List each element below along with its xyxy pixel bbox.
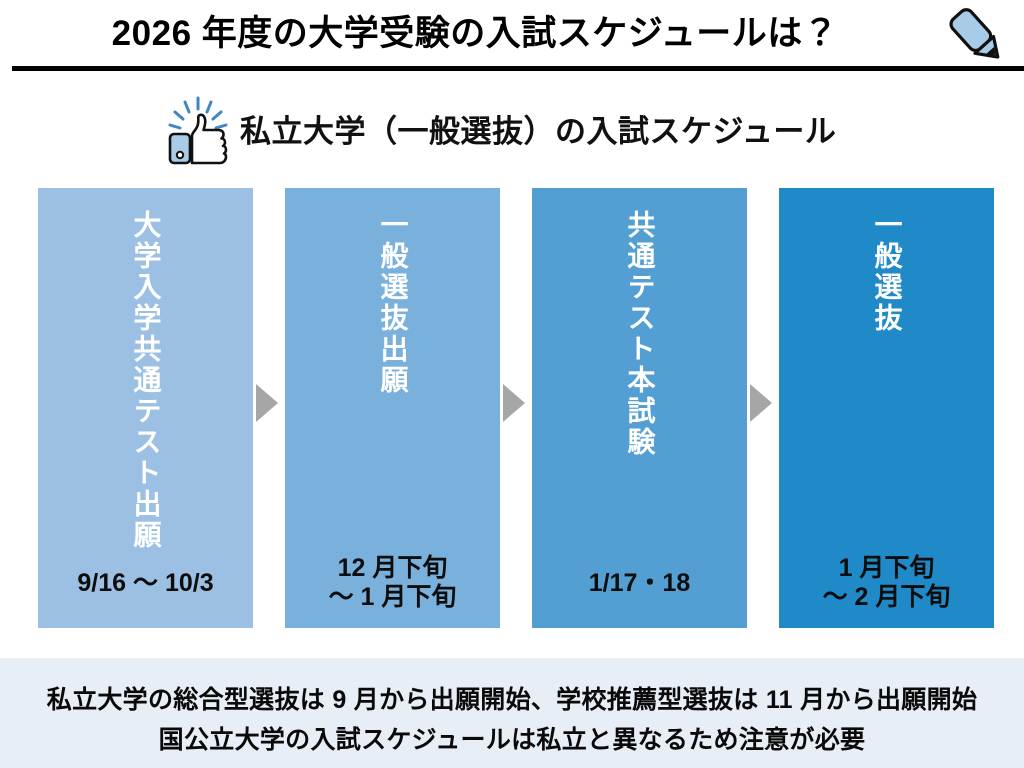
thumbs-up-icon <box>162 96 234 166</box>
card-date: 1/17・18 <box>532 569 747 598</box>
subtitle-text: 私立大学（一般選抜）の入試スケジュール <box>240 112 836 152</box>
card-title: 一般選抜出願 <box>285 210 500 396</box>
card-title: 大学入学共通テスト出願 <box>38 210 253 551</box>
card-date-line-1: 12 月下旬 <box>285 554 500 583</box>
card-title-text: 共通テスト本試験 <box>626 210 654 458</box>
triangle-right-icon <box>750 384 772 422</box>
triangle-right-icon <box>503 384 525 422</box>
timeline-card-4: 一般選抜 1 月下旬 〜 2 月下旬 <box>779 188 994 628</box>
footer-note-line-1: 私立大学の総合型選抜は 9 月から出願開始、学校推薦型選抜は 11 月から出願開… <box>0 680 1024 716</box>
card-date-line-1: 1/17・18 <box>532 569 747 598</box>
card-title-text: 一般選抜 <box>873 210 901 334</box>
timeline-card-3: 共通テスト本試験 1/17・18 <box>532 188 747 628</box>
timeline-card-2: 一般選抜出願 12 月下旬 〜 1 月下旬 <box>285 188 500 628</box>
card-date: 1 月下旬 〜 2 月下旬 <box>779 554 994 612</box>
card-date-line-1: 1 月下旬 <box>779 554 994 583</box>
card-title-text: 一般選抜出願 <box>379 210 407 396</box>
card-date: 12 月下旬 〜 1 月下旬 <box>285 554 500 612</box>
subtitle-row: 私立大学（一般選抜）の入試スケジュール <box>0 96 1024 168</box>
timeline: 大学入学共通テスト出願 9/16 〜 10/3 一般選抜出願 12 月下旬 〜 … <box>0 188 1024 628</box>
page-title: 2026 年度の大学受験の入試スケジュールは？ <box>0 8 950 60</box>
card-title: 一般選抜 <box>779 210 994 334</box>
page-header: 2026 年度の大学受験の入試スケジュールは？ <box>0 0 1024 78</box>
pencil-icon <box>942 4 1018 72</box>
footer-note: 私立大学の総合型選抜は 9 月から出願開始、学校推薦型選抜は 11 月から出願開… <box>0 658 1024 768</box>
timeline-card-1: 大学入学共通テスト出願 9/16 〜 10/3 <box>38 188 253 628</box>
card-title: 共通テスト本試験 <box>532 210 747 458</box>
card-title-text: 大学入学共通テスト出願 <box>132 210 160 551</box>
footer-note-line-2: 国公立大学の入試スケジュールは私立と異なるため注意が必要 <box>0 720 1024 756</box>
card-date-line-2: 〜 1 月下旬 <box>285 583 500 612</box>
triangle-right-icon <box>256 384 278 422</box>
card-date: 9/16 〜 10/3 <box>38 569 253 598</box>
header-divider <box>12 66 1024 71</box>
card-date-line-1: 9/16 〜 10/3 <box>38 569 253 598</box>
card-date-line-2: 〜 2 月下旬 <box>779 583 994 612</box>
